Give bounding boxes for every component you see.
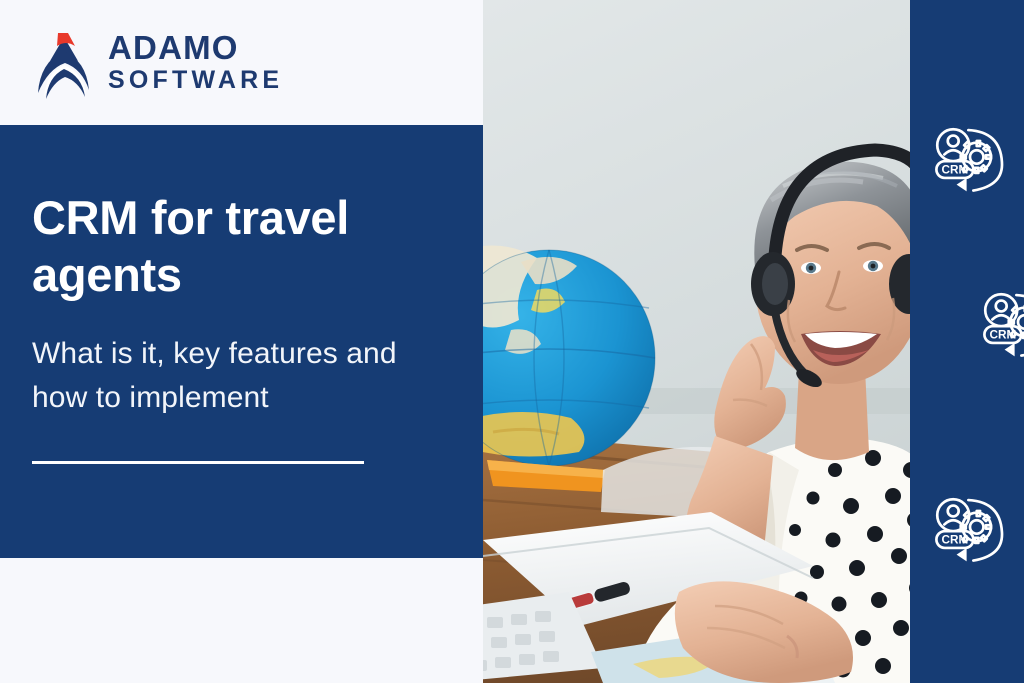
page-subtitle: What is it, key features and how to impl… bbox=[32, 332, 452, 419]
svg-text:CRM: CRM bbox=[941, 163, 968, 176]
brand-name-primary: ADAMO bbox=[108, 31, 283, 65]
marketing-banner: ADAMO SOFTWARE CRM for travel agents Wha… bbox=[0, 0, 1024, 683]
crm-user-gear-cycle-icon: CRM bbox=[928, 490, 1012, 574]
brand-name-secondary: SOFTWARE bbox=[108, 67, 283, 95]
side-icon-strip: CRM CRM bbox=[910, 0, 1024, 683]
hero-text-panel: CRM for travel agents What is it, key fe… bbox=[0, 125, 483, 558]
crm-user-gear-cycle-icon: CRM bbox=[976, 285, 1024, 369]
brand-wordmark: ADAMO SOFTWARE bbox=[108, 31, 283, 94]
page-title: CRM for travel agents bbox=[32, 189, 442, 304]
svg-text:CRM: CRM bbox=[941, 533, 968, 546]
title-divider bbox=[32, 461, 364, 464]
adamo-mountain-swoosh-icon bbox=[34, 27, 96, 99]
brand-logo[interactable]: ADAMO SOFTWARE bbox=[0, 0, 483, 125]
svg-text:CRM: CRM bbox=[989, 328, 1016, 341]
crm-user-gear-cycle-icon: CRM bbox=[928, 120, 1012, 204]
hero-photo bbox=[483, 0, 924, 683]
